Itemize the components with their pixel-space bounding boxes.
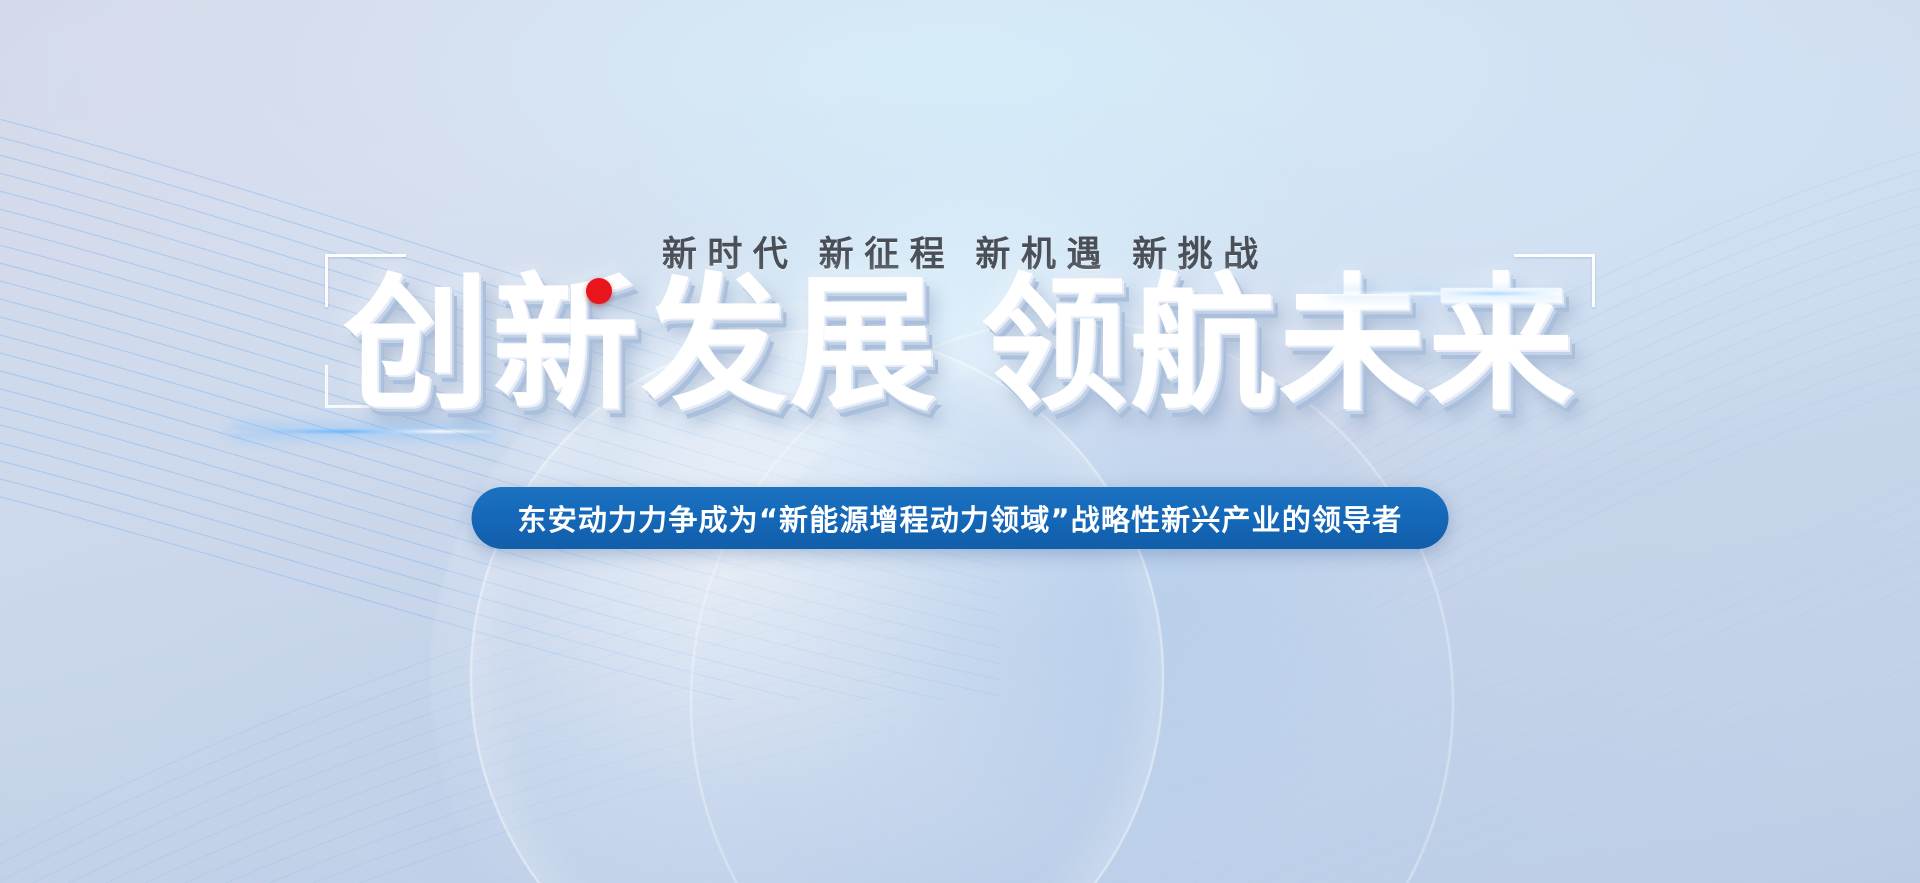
headline-part-2: 领航未来 xyxy=(981,260,1577,430)
banner-content: 新时代 新征程 新机遇 新挑战 创新发展领航未来 东安动力力争成为“新能源增程动… xyxy=(0,0,1920,883)
headline: 创新发展领航未来 xyxy=(343,272,1576,418)
slogan-pill-text: 东安动力力争成为“新能源增程动力领域”战略性新兴产业的领导者 xyxy=(518,497,1403,539)
headline-box: 创新发展领航未来 xyxy=(317,258,1602,418)
headline-part-1: 创新发展 xyxy=(343,260,939,430)
promotional-banner: 新时代 新征程 新机遇 新挑战 创新发展领航未来 东安动力力争成为“新能源增程动… xyxy=(0,0,1920,883)
light-streak-left-icon xyxy=(232,430,492,433)
headline-wrap: 创新发展领航未来 xyxy=(0,258,1920,418)
slogan-pill: 东安动力力争成为“新能源增程动力领域”战略性新兴产业的领导者 xyxy=(472,487,1449,549)
